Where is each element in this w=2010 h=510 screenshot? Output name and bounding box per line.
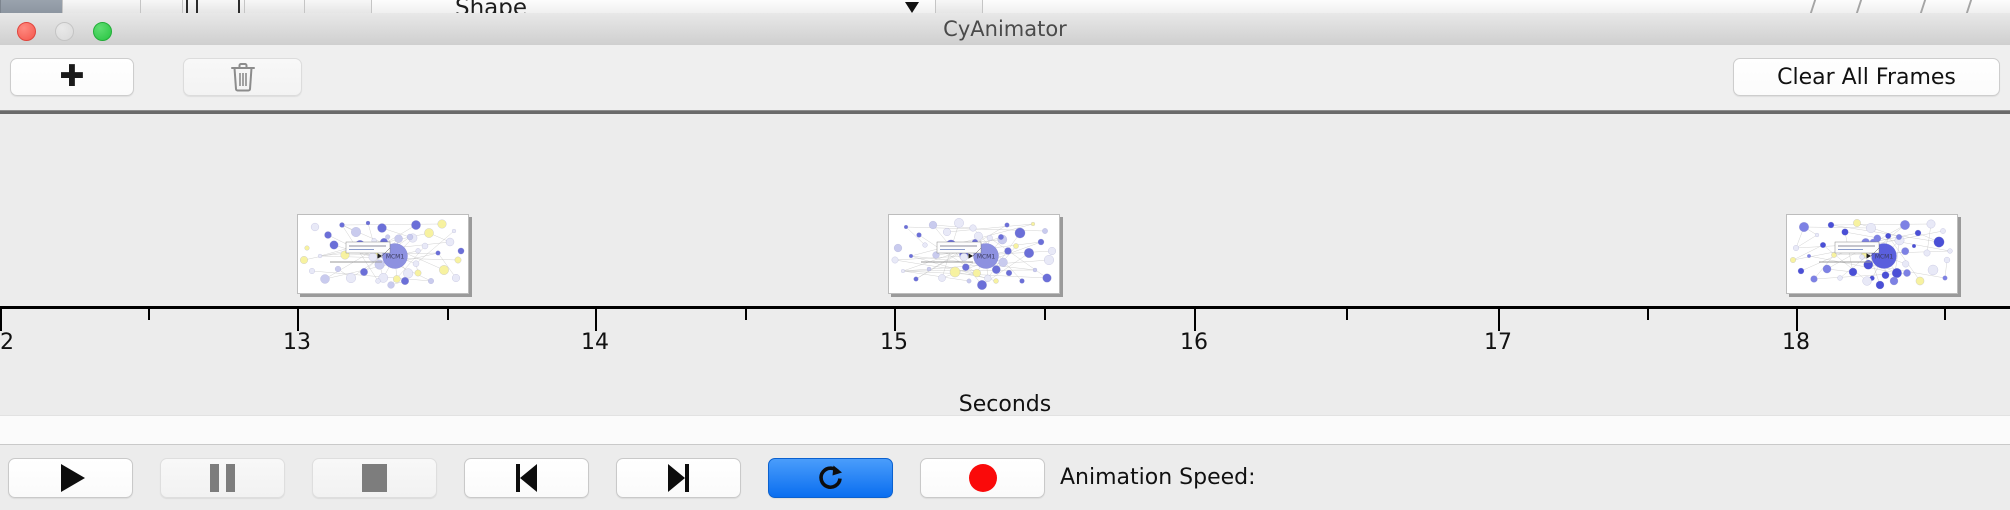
play-button[interactable] — [8, 458, 133, 498]
skip-backward-icon — [516, 464, 537, 492]
bg-divider — [1856, 0, 1862, 13]
timeline-axis-title: Seconds — [0, 392, 2010, 415]
timeline-scrollbar[interactable] — [0, 415, 2010, 445]
timeline-frame-thumbnail[interactable]: MCM1 — [888, 214, 1060, 294]
bg-divider — [1966, 0, 1972, 13]
plus-icon: ✚ — [59, 62, 84, 92]
title-bar[interactable]: CyAnimator — [0, 13, 2010, 46]
bg-divider — [1920, 0, 1926, 13]
add-frame-button[interactable]: ✚ — [10, 58, 134, 96]
skip-forward-icon — [668, 464, 689, 492]
bg-tab — [140, 0, 184, 13]
axis-tick-minor — [1346, 309, 1348, 320]
axis-tick-label: 16 — [1164, 330, 1224, 355]
axis-tick-major — [1796, 309, 1798, 331]
bg-tab — [935, 0, 983, 13]
bg-divider — [1810, 0, 1816, 13]
svg-text:MCM1: MCM1 — [977, 253, 996, 260]
bg-tab — [304, 0, 372, 13]
axis-tick-minor — [1647, 309, 1649, 320]
axis-tick-label: 18 — [1766, 330, 1826, 355]
stop-button[interactable] — [312, 458, 437, 498]
loop-icon — [816, 463, 846, 493]
timeline-axis — [0, 306, 2010, 309]
cyanimator-window: Shape CyAnimator ✚ Clear All Frames — [0, 0, 2010, 510]
loop-button[interactable] — [768, 458, 893, 498]
bg-caret-icon — [905, 2, 919, 13]
bg-divider — [238, 0, 240, 13]
axis-tick-major — [1194, 309, 1196, 331]
record-icon — [969, 464, 997, 492]
stop-icon — [362, 464, 387, 492]
transport-bar: Animation Speed: — [0, 446, 2010, 510]
svg-text:MCM1: MCM1 — [1875, 253, 1894, 260]
clear-all-frames-button[interactable]: Clear All Frames — [1733, 58, 2000, 96]
bg-tab-active — [0, 0, 64, 13]
axis-tick-minor — [447, 309, 449, 320]
background-window-strip: Shape — [0, 0, 2010, 14]
axis-tick-label: 14 — [565, 330, 625, 355]
skip-to-start-button[interactable] — [464, 458, 589, 498]
axis-tick-label: 12 — [0, 330, 30, 355]
axis-tick-minor — [1944, 309, 1946, 320]
timeline-frame-thumbnail[interactable]: MCM1 — [1786, 214, 1958, 294]
window-title: CyAnimator — [0, 13, 2010, 45]
axis-tick-major — [894, 309, 896, 331]
timeline-panel[interactable]: MCM1 MCM1 MCM1 12131415161718 Seconds — [0, 114, 2010, 415]
axis-tick-major — [0, 309, 2, 331]
toolbar: ✚ Clear All Frames — [0, 45, 2010, 110]
clear-all-frames-label: Clear All Frames — [1777, 65, 1956, 90]
play-icon — [61, 464, 85, 492]
axis-tick-label: 17 — [1468, 330, 1528, 355]
bg-tab — [182, 0, 246, 13]
svg-text:MCM1: MCM1 — [386, 253, 405, 260]
axis-tick-minor — [148, 309, 150, 320]
axis-tick-label: 15 — [864, 330, 924, 355]
bg-divider — [196, 0, 198, 13]
axis-tick-label: 13 — [267, 330, 327, 355]
axis-tick-minor — [1044, 309, 1046, 320]
trash-icon — [230, 62, 256, 92]
bg-tab — [62, 0, 142, 13]
axis-tick-major — [297, 309, 299, 331]
delete-frame-button[interactable] — [183, 58, 302, 96]
skip-to-end-button[interactable] — [616, 458, 741, 498]
pause-icon — [210, 464, 235, 492]
axis-tick-major — [595, 309, 597, 331]
pause-button[interactable] — [160, 458, 285, 498]
bg-fragment-label: Shape — [455, 0, 527, 14]
record-button[interactable] — [920, 458, 1045, 498]
axis-tick-major — [1498, 309, 1500, 331]
bg-divider — [186, 0, 188, 13]
timeline-frame-thumbnail[interactable]: MCM1 — [297, 214, 469, 294]
bg-tab — [244, 0, 306, 13]
axis-tick-minor — [745, 309, 747, 320]
animation-speed-label: Animation Speed: — [1060, 458, 1256, 498]
